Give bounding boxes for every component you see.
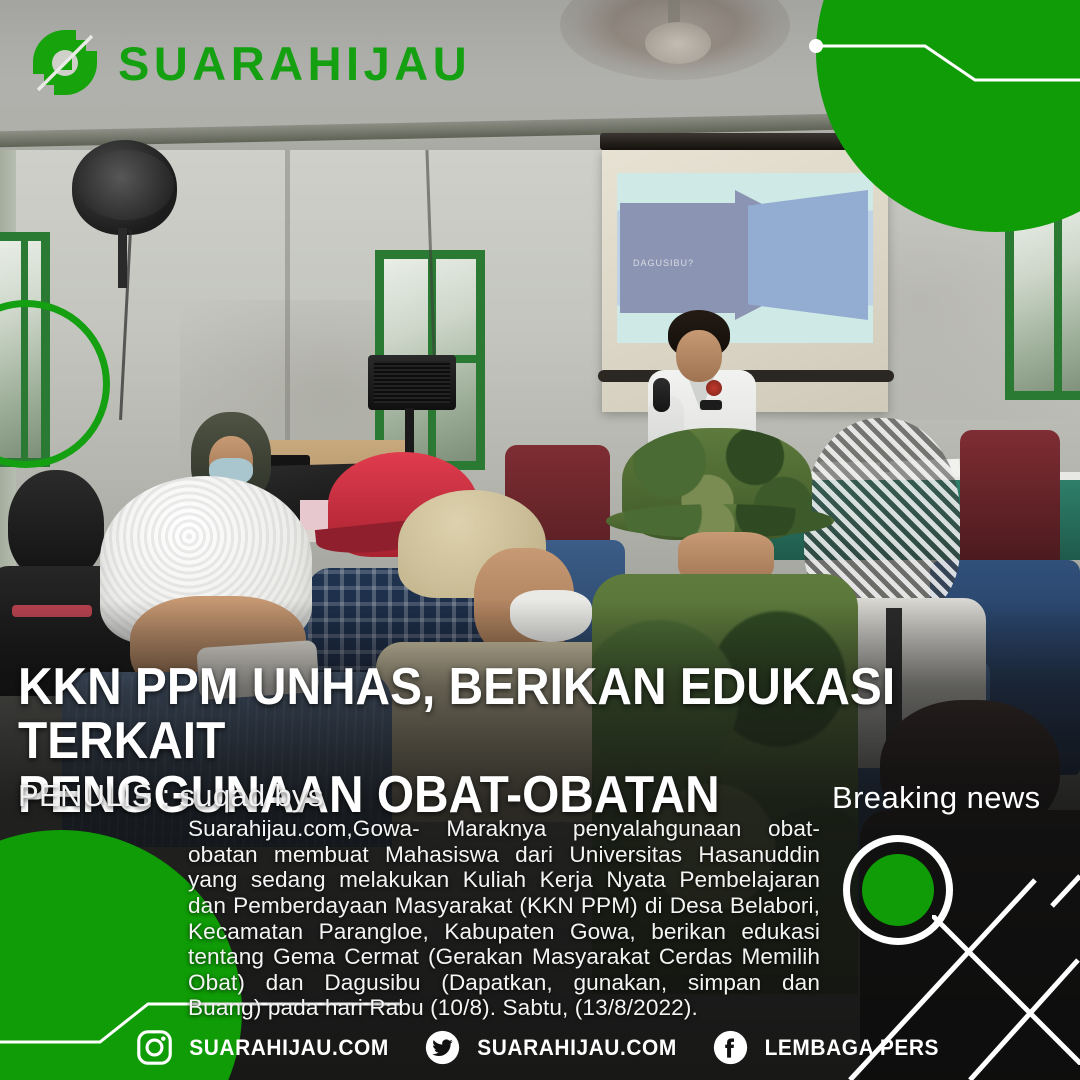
social-item-twitter[interactable]: SUARAHIJAU.COM — [424, 1029, 682, 1066]
window-mullion — [1054, 209, 1062, 391]
slide-shape — [748, 190, 868, 320]
presenter-badge — [706, 380, 722, 396]
instagram-icon[interactable] — [136, 1029, 173, 1066]
article-body: Suarahijau.com,Gowa- Maraknya penyalahgu… — [188, 816, 820, 1021]
wall-edge — [285, 150, 290, 450]
microphone — [653, 378, 670, 412]
twitter-icon[interactable] — [424, 1029, 461, 1066]
byline: PENULIS : suqad bys — [18, 778, 324, 814]
social-label-facebook: LEMBAGA PERS — [765, 1035, 939, 1061]
social-label-instagram: SUARAHIJAU.COM — [189, 1035, 389, 1061]
brand-name: SUARAHIJAU — [118, 40, 471, 87]
wall-fan-blades — [78, 150, 174, 220]
slide-title-text: DAGUSIBU? — [633, 258, 694, 268]
social-item-instagram[interactable]: SUARAHIJAU.COM — [136, 1029, 394, 1066]
social-footer: SUARAHIJAU.COM SUARAHIJAU.COM LEMBAGA PE… — [0, 1029, 1080, 1066]
headline-line-1: KKN PPM UNHAS, BERIKAN EDUKASI TERKAIT — [18, 658, 895, 770]
window-glass — [1014, 209, 1080, 391]
presenter-face — [676, 330, 722, 382]
article-paragraph: Suarahijau.com,Gowa- Maraknya penyalahgu… — [188, 816, 820, 995]
facebook-icon[interactable] — [712, 1029, 749, 1066]
speaker-grill — [374, 361, 450, 403]
wristwatch — [700, 400, 722, 410]
social-label-twitter: SUARAHIJAU.COM — [477, 1035, 677, 1061]
suarahijau-logo-icon — [28, 26, 102, 100]
breaking-news-ring — [843, 835, 953, 945]
ring-green-dot — [862, 854, 934, 926]
news-poster: DAGUSIBU? — [0, 0, 1080, 1080]
social-item-facebook[interactable]: LEMBAGA PERS — [712, 1029, 944, 1066]
article-last-line: Buang) pada hari Rabu (10/8). Sabtu, (13… — [188, 995, 820, 1021]
brand-logo[interactable]: SUARAHIJAU — [28, 26, 471, 100]
